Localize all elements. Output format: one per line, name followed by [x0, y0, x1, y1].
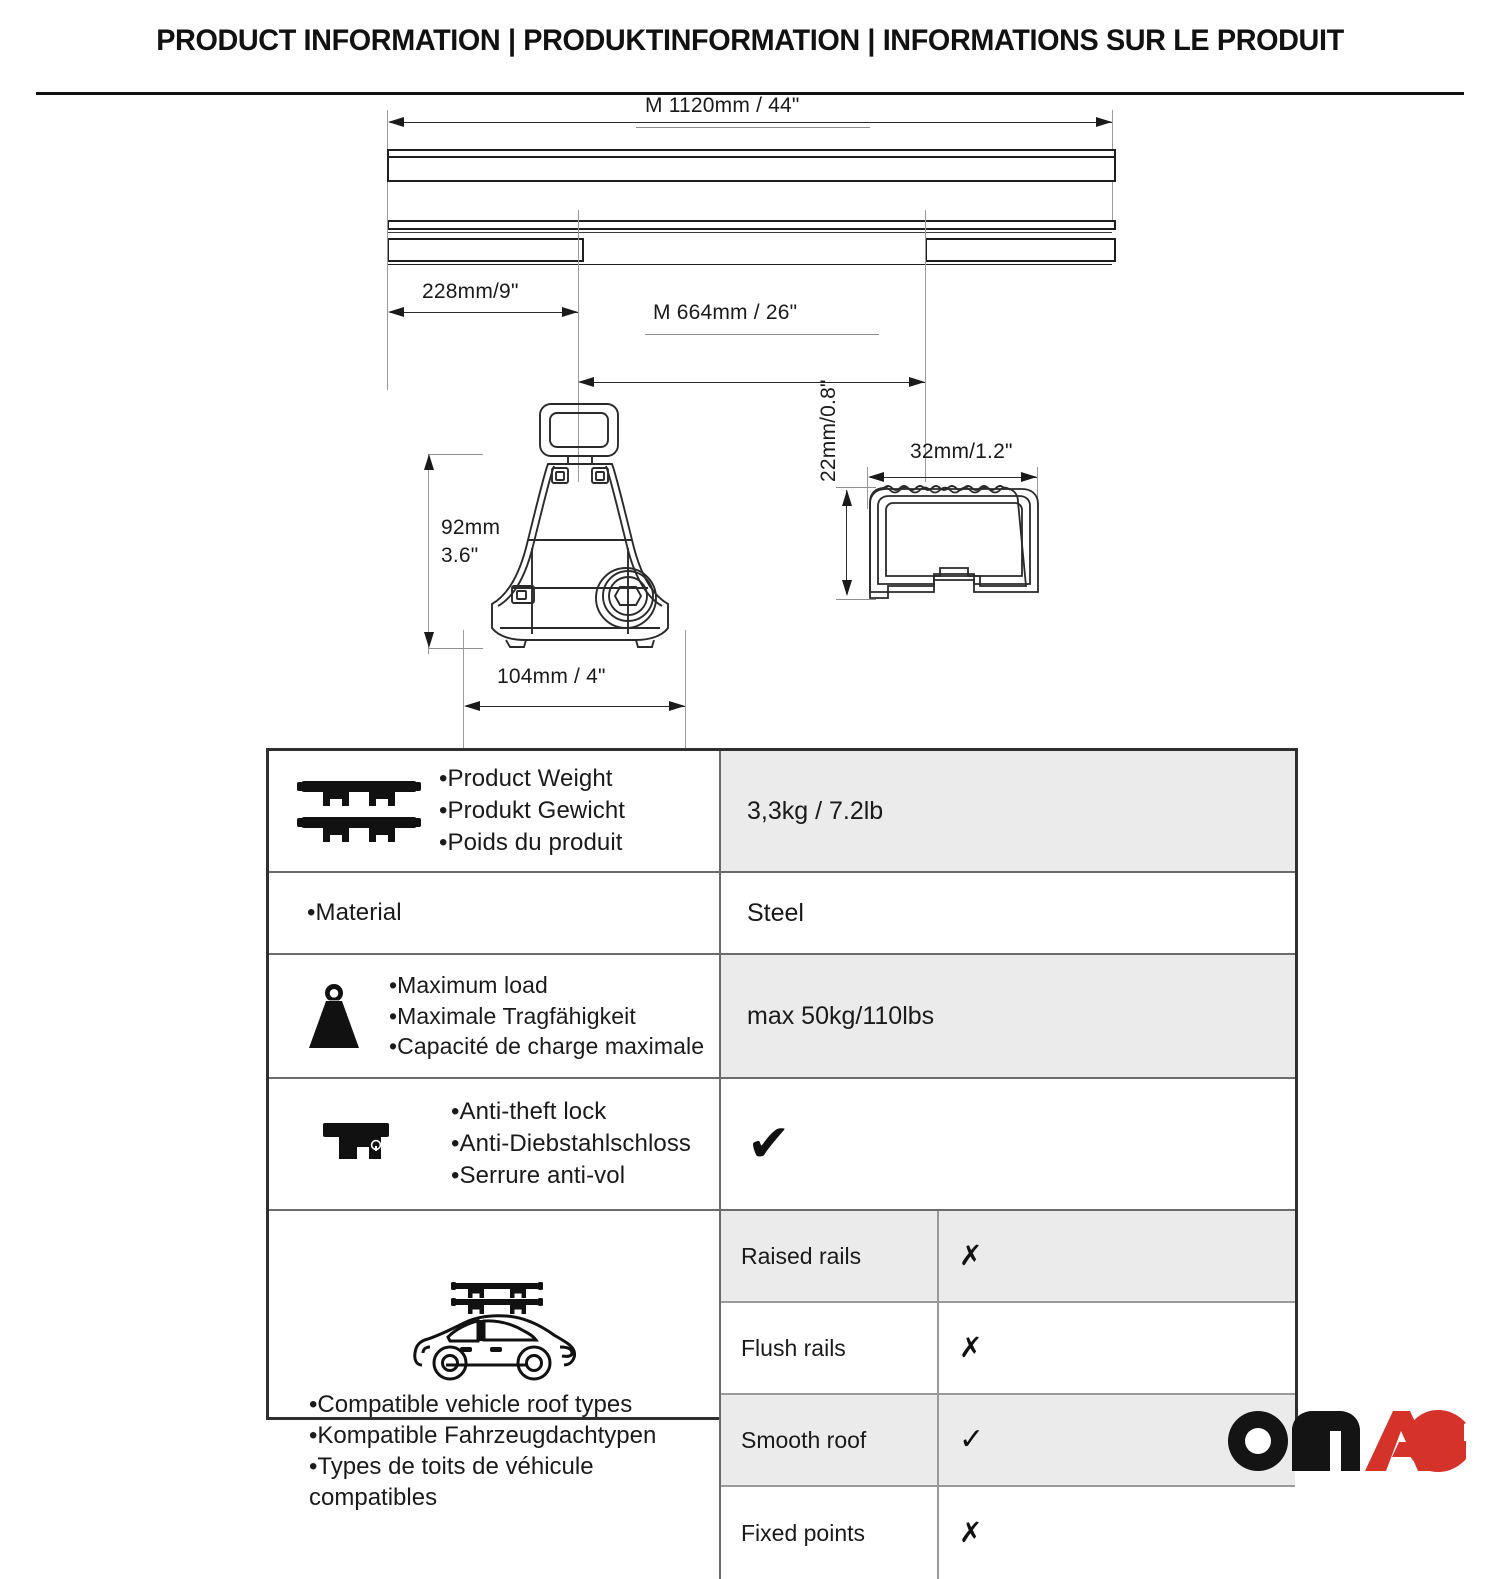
spec-bullets: •Product Weight •Produkt Gewicht •Poids …: [439, 763, 715, 858]
rail-profile-cross-section: [862, 480, 1052, 610]
bar-top-body: [387, 156, 1116, 182]
spec-bullet: •Anti-Diebstahlschloss: [451, 1128, 715, 1160]
roof-types-subtable: Raised rails ✗ Flush rails ✗ Smooth roof…: [721, 1211, 1295, 1579]
compat-label-cell: •Compatible vehicle roof types •Kompatib…: [269, 1211, 721, 1579]
dim-arrow-up-92: [424, 454, 434, 470]
spec-bullet: •Maximale Tragfähigkeit: [389, 1001, 715, 1031]
page-header: PRODUCT INFORMATION | PRODUKTINFORMATION…: [0, 24, 1500, 58]
dim-arrow-left-104: [464, 701, 480, 711]
compat-bullet: •Types de toits de véhicule: [309, 1451, 656, 1482]
cross-icon: ✗: [959, 1334, 982, 1362]
roof-type-name: Fixed points: [721, 1487, 939, 1579]
dim-arrow-down-22: [842, 580, 852, 596]
cross-icon: ✗: [959, 1519, 982, 1547]
spec-label-cell: •Maximum load •Maximale Tragfähigkeit •C…: [269, 955, 721, 1077]
dim-arrow-left-1120: [388, 117, 404, 127]
roof-type-row-raised-rails: Raised rails ✗: [721, 1211, 1295, 1303]
table-row: •Material Steel: [269, 873, 1295, 955]
spec-bullet: •Maximum load: [389, 970, 715, 1000]
spec-bullets: •Maximum load •Maximale Tragfähigkeit •C…: [389, 970, 715, 1061]
spec-bullet: •Anti-theft lock: [451, 1096, 715, 1128]
dim-foot-offset-label: 228mm/9": [422, 280, 519, 304]
dim-arrow-left-664: [578, 377, 594, 387]
dim-foot-height-line1: 92mm: [441, 516, 500, 540]
dim-arrow-right-664: [909, 377, 925, 387]
table-row: •Product Weight •Produkt Gewicht •Poids …: [269, 751, 1295, 873]
dim-line-664: [580, 382, 925, 383]
compat-bullets: •Compatible vehicle roof types •Kompatib…: [275, 1389, 656, 1514]
spec-bullet: •Product Weight: [439, 763, 715, 795]
ext-line-height-bottom: [428, 648, 483, 649]
dim-line-228: [390, 312, 578, 313]
bar-lower-line-a: [387, 232, 1112, 233]
table-row: •Maximum load •Maximale Tragfähigkeit •C…: [269, 955, 1295, 1079]
spec-bullet: •Produkt Gewicht: [439, 795, 715, 827]
crossbars-icon: [279, 775, 439, 847]
dim-foot-height-line2: 3.6": [441, 544, 478, 568]
ext-line-right-104: [685, 630, 686, 752]
table-row-compatible-roof-types: •Compatible vehicle roof types •Kompatib…: [269, 1211, 1295, 1579]
ext-line-height-92: [428, 454, 429, 654]
ext-line-height-top: [428, 454, 483, 455]
spec-label-cell: •Product Weight •Produkt Gewicht •Poids …: [269, 751, 721, 871]
dim-profile-height-label: 22mm/0.8": [817, 379, 841, 482]
compat-bullet: •Compatible vehicle roof types: [309, 1389, 656, 1420]
spec-bullet: •Material: [307, 897, 715, 929]
ext-line-left-104: [463, 630, 464, 752]
page-title: PRODUCT INFORMATION | PRODUKTINFORMATION…: [30, 24, 1470, 58]
check-icon: ✓: [959, 1425, 984, 1455]
spec-label-cell: •Anti-theft lock •Anti-Diebstahlschloss …: [269, 1079, 721, 1209]
spec-value-maximum-load: max 50kg/110lbs: [721, 955, 1295, 1077]
dim-line-32: [870, 477, 1037, 478]
roof-type-value: ✗: [939, 1211, 1295, 1301]
bar-foot-right: [925, 238, 1116, 262]
roof-rack-foot-drawing: [440, 400, 730, 690]
spec-bullet: •Serrure anti-vol: [451, 1160, 715, 1192]
roof-type-row-fixed-points: Fixed points ✗: [721, 1487, 1295, 1579]
dim-arrow-right-104: [669, 701, 685, 711]
checkmark-icon: ✔: [747, 1118, 791, 1170]
dim-arrow-up-22: [842, 490, 852, 506]
weight-icon: [279, 980, 389, 1052]
table-row: •Anti-theft lock •Anti-Diebstahlschloss …: [269, 1079, 1295, 1211]
dim-bar-length-underline: [636, 127, 870, 128]
product-information-page: PRODUCT INFORMATION | PRODUKTINFORMATION…: [0, 0, 1500, 1500]
bar-foot-left: [387, 238, 584, 262]
spec-value-product-weight: 3,3kg / 7.2lb: [721, 751, 1295, 871]
ext-line-left-228: [387, 210, 388, 390]
spec-value-anti-theft-lock: ✔: [721, 1079, 1295, 1209]
roof-type-name: Raised rails: [721, 1211, 939, 1301]
roof-type-name: Smooth roof: [721, 1395, 939, 1485]
roof-type-row-flush-rails: Flush rails ✗: [721, 1303, 1295, 1395]
spec-label-cell: •Material: [269, 873, 721, 953]
compat-bullet: •Kompatible Fahrzeugdachtypen: [309, 1420, 656, 1451]
roof-type-value: ✗: [939, 1303, 1295, 1393]
cross-icon: ✗: [959, 1242, 982, 1270]
dim-foot-width-label: 104mm / 4": [497, 665, 606, 689]
technical-drawing: M 1120mm / 44" 228mm/9" M 664mm / 26": [0, 82, 1500, 732]
specification-table: •Product Weight •Produkt Gewicht •Poids …: [266, 748, 1298, 1420]
roof-type-row-smooth-roof: Smooth roof ✓: [721, 1395, 1295, 1487]
dim-profile-width-label: 32mm/1.2": [910, 440, 1013, 464]
dim-arrow-right-228: [562, 307, 578, 317]
spec-bullets: •Anti-theft lock •Anti-Diebstahlschloss …: [439, 1096, 715, 1191]
dim-line-104: [466, 706, 685, 707]
dim-bar-spread-label: M 664mm / 26": [653, 301, 797, 325]
bar-lower-line-b: [387, 264, 1112, 265]
compat-bullet: compatibles: [309, 1482, 656, 1513]
omac-logo: [1226, 1404, 1466, 1478]
car-with-roofrack-icon: [406, 1277, 582, 1389]
lock-icon: [279, 1115, 439, 1173]
dim-bar-spread-underline: [645, 334, 879, 335]
spec-bullets: •Material: [279, 897, 715, 929]
dim-arrow-left-228: [388, 307, 404, 317]
roof-type-value: ✗: [939, 1487, 1295, 1579]
bar-lower-topstrip: [387, 220, 1116, 230]
dim-line-1120: [390, 122, 1112, 123]
spec-value-material: Steel: [721, 873, 1295, 953]
dim-arrow-down-92: [424, 632, 434, 648]
spec-bullet: •Capacité de charge maximale: [389, 1031, 715, 1061]
dim-bar-length-label: M 1120mm / 44": [645, 94, 800, 118]
spec-bullet: •Poids du produit: [439, 827, 715, 859]
dim-arrow-right-1120: [1096, 117, 1112, 127]
roof-type-name: Flush rails: [721, 1303, 939, 1393]
